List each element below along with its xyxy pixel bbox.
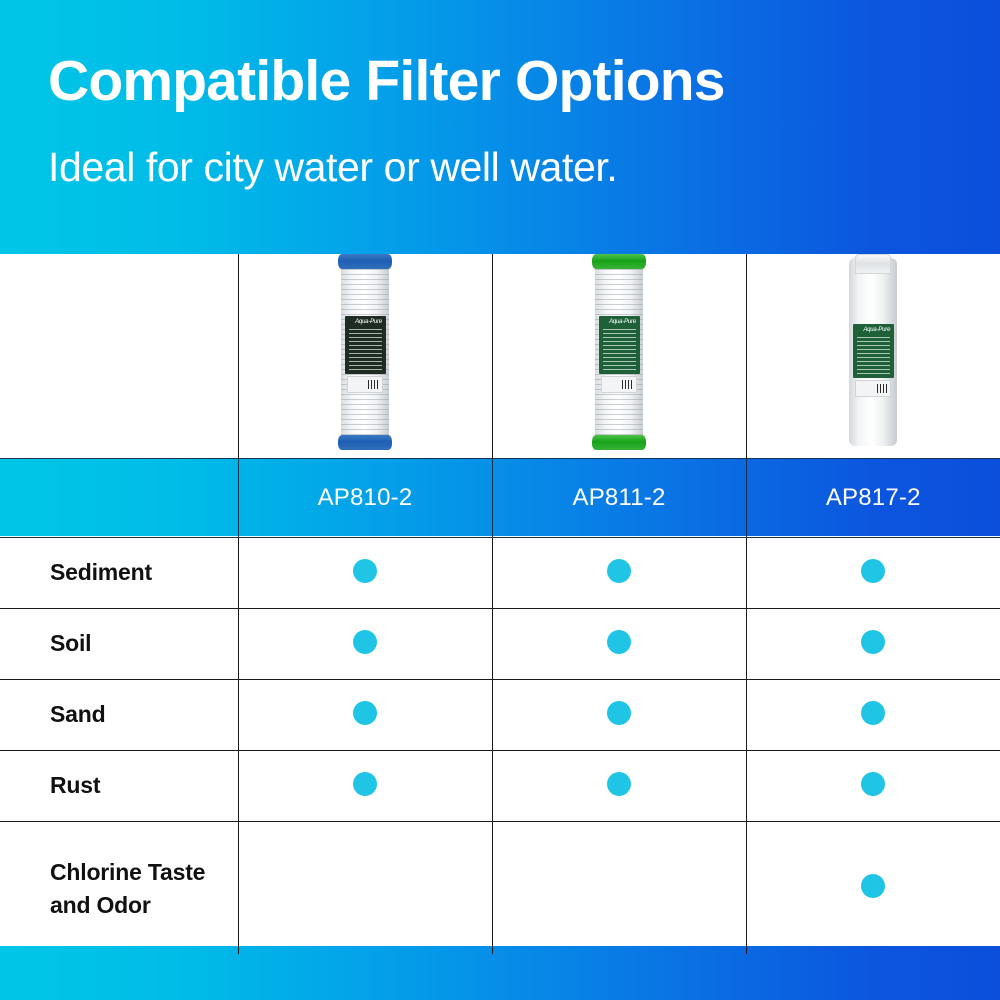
- product-image-row: Aqua-Pure Aqu: [0, 254, 1000, 459]
- table-row: Soil: [0, 609, 1000, 680]
- supported-dot-icon: [353, 559, 377, 583]
- page-title: Compatible Filter Options: [48, 52, 725, 112]
- table-row: Sand: [0, 680, 1000, 751]
- cell-chlorine-ap817-2: [746, 822, 1000, 955]
- cell-chlorine-ap811-2: [492, 822, 746, 955]
- cell-sediment-ap810-2: [238, 538, 492, 609]
- water-filter-cartridge-icon: Aqua-Pure: [338, 254, 392, 450]
- supported-dot-icon: [861, 559, 885, 583]
- cell-rust-ap817-2: [746, 751, 1000, 822]
- footer-gradient-bar: [0, 946, 1000, 1000]
- supported-dot-icon: [607, 559, 631, 583]
- table-row: Chlorine Taste and Odor: [0, 822, 1000, 955]
- supported-dot-icon: [861, 701, 885, 725]
- water-filter-cartridge-icon: Aqua-Pure: [592, 254, 646, 450]
- supported-dot-icon: [861, 630, 885, 654]
- product-header-ap817-2[interactable]: AP817-2: [746, 459, 1000, 538]
- cell-rust-ap811-2: [492, 751, 746, 822]
- row-label-soil: Soil: [0, 609, 238, 680]
- compatibility-table: Aqua-Pure Aqu: [0, 254, 1000, 954]
- supported-dot-icon: [353, 630, 377, 654]
- product-image-cell-0: Aqua-Pure: [238, 254, 492, 459]
- product-header-ap811-2[interactable]: AP811-2: [492, 459, 746, 538]
- row-label-chlorine-taste-and-odor: Chlorine Taste and Odor: [0, 822, 238, 955]
- page-subtitle: Ideal for city water or well water.: [48, 145, 617, 190]
- cell-soil-ap811-2: [492, 609, 746, 680]
- cell-chlorine-ap810-2: [238, 822, 492, 955]
- header-label-cell: [0, 459, 238, 538]
- header-banner: Compatible Filter Options Ideal for city…: [0, 0, 1000, 254]
- cell-soil-ap817-2: [746, 609, 1000, 680]
- product-image-cell-1: Aqua-Pure: [492, 254, 746, 459]
- cell-soil-ap810-2: [238, 609, 492, 680]
- supported-dot-icon: [607, 701, 631, 725]
- row-label-rust: Rust: [0, 751, 238, 822]
- cell-sediment-ap811-2: [492, 538, 746, 609]
- row-label-sand: Sand: [0, 680, 238, 751]
- supported-dot-icon: [607, 630, 631, 654]
- supported-dot-icon: [861, 772, 885, 796]
- cell-rust-ap810-2: [238, 751, 492, 822]
- table-row: Sediment: [0, 538, 1000, 609]
- compatibility-table-wrapper: Aqua-Pure Aqu: [0, 254, 1000, 946]
- supported-dot-icon: [353, 772, 377, 796]
- product-image-cell-2: Aqua-Pure: [746, 254, 1000, 459]
- supported-dot-icon: [353, 701, 377, 725]
- supported-dot-icon: [607, 772, 631, 796]
- cell-sand-ap810-2: [238, 680, 492, 751]
- cell-sediment-ap817-2: [746, 538, 1000, 609]
- table-row: Rust: [0, 751, 1000, 822]
- cell-sand-ap811-2: [492, 680, 746, 751]
- supported-dot-icon: [861, 874, 885, 898]
- compatibility-chart-page: Compatible Filter Options Ideal for city…: [0, 0, 1000, 1000]
- product-header-row: AP810-2 AP811-2 AP817-2: [0, 459, 1000, 538]
- row-label-sediment: Sediment: [0, 538, 238, 609]
- cell-sand-ap817-2: [746, 680, 1000, 751]
- product-header-ap810-2[interactable]: AP810-2: [238, 459, 492, 538]
- water-filter-cartridge-icon: Aqua-Pure: [846, 254, 900, 450]
- image-row-spacer: [0, 254, 238, 459]
